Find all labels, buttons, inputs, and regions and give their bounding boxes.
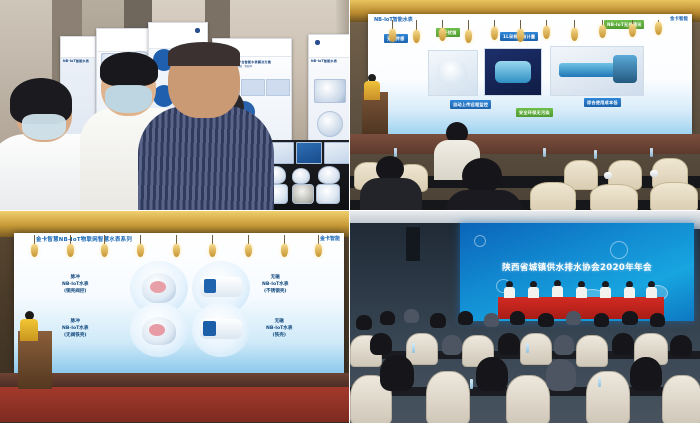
delegate-chair — [506, 375, 550, 423]
banner-product-image — [314, 79, 346, 103]
ceiling-lamp — [517, 29, 524, 42]
ceiling-lamp — [101, 244, 108, 257]
ceiling-lamp — [173, 244, 180, 257]
label-line-3: (铁壳) — [273, 333, 286, 338]
panelist — [600, 281, 611, 298]
delegate — [670, 335, 692, 357]
ceiling-lamp — [491, 27, 498, 40]
label-line-2: NB-IoT水表 — [62, 326, 88, 331]
panelist-body — [646, 287, 657, 298]
ceiling-lamp — [571, 28, 578, 41]
water-bottle — [526, 343, 529, 353]
ceiling-lamp — [281, 244, 288, 257]
ceiling-lamp — [315, 244, 322, 257]
ceiling-lamp — [245, 244, 252, 257]
delegate-chair — [586, 371, 630, 423]
water-meter-graphic — [437, 61, 467, 83]
slide-product-image — [428, 50, 478, 96]
delegate — [538, 313, 554, 327]
label-line-2: NB-IoT水表 — [62, 282, 88, 287]
label-line-3: (无阀铁壳) — [64, 333, 87, 338]
teapot — [650, 170, 658, 177]
teapot — [604, 172, 612, 179]
side-wall — [350, 223, 460, 323]
banner-header — [309, 35, 350, 58]
delegate — [612, 333, 634, 355]
ceiling-lamp — [31, 244, 38, 257]
water-meter-graphic — [495, 61, 531, 83]
water-meter-sample — [292, 168, 310, 184]
annual-meeting-scene: 陕西省城镇供水排水协会2020年年会 — [350, 211, 700, 423]
water-meter-sample — [318, 166, 340, 184]
booth-scene: NB-IoT智能水表 — [0, 0, 349, 210]
banner-title: NB-IoT智能水表 — [309, 58, 350, 64]
product-label-bottom-right: 无磁 NB-IoT水表 (铁壳) — [266, 319, 292, 340]
delegate — [356, 315, 372, 330]
audience-body — [446, 190, 522, 211]
delegate — [650, 313, 665, 327]
delegate — [554, 335, 574, 355]
audience-chair — [530, 182, 576, 211]
slide-tag: 综合使用成本低 — [584, 98, 621, 107]
panelist — [646, 281, 657, 298]
speaker — [20, 311, 38, 341]
label-line-1: 脉冲 — [71, 275, 80, 280]
panelist-body — [576, 287, 587, 298]
label-line-3: (不锈钢壳) — [264, 289, 287, 294]
audience-chair — [650, 182, 698, 211]
slide-product-image — [550, 46, 644, 96]
slide-tag: 自动上传远程监控 — [450, 100, 491, 109]
meter-dial — [150, 281, 166, 293]
audience-chair — [590, 184, 638, 211]
delegate — [498, 333, 520, 355]
ceiling-lamp — [655, 22, 662, 35]
slide-brand: 金卡智能 — [320, 235, 340, 242]
delegate-foreground — [546, 359, 576, 391]
product-label-bottom-left: 脉冲 NB-IoT水表 (无阀铁壳) — [62, 319, 88, 340]
delegate — [380, 311, 395, 325]
water-meter-graphic — [613, 55, 637, 83]
presentation-scene: 金卡智慧NB-IoT物联网智慧水表系列 金卡智能 — [0, 211, 349, 423]
photo-bottom-left: 金卡智慧NB-IoT物联网智慧水表系列 金卡智能 — [0, 211, 350, 423]
water-bottle — [412, 343, 415, 353]
stage-edge — [0, 373, 350, 387]
ceiling-lamp — [543, 26, 550, 39]
photo-bottom-right: 陕西省城镇供水排水协会2020年年会 — [350, 211, 700, 423]
product-box — [296, 142, 322, 164]
ceiling-lamp — [439, 28, 446, 41]
label-line-1: 无磁 — [271, 275, 280, 280]
delegate-chair — [406, 333, 438, 365]
product-circle-bottom-left — [130, 303, 188, 357]
panelist — [528, 281, 539, 298]
company-logo-icon — [193, 26, 202, 35]
water-bottle — [598, 377, 601, 387]
delegate — [594, 313, 609, 327]
product-label-top-left: 脉冲 NB-IoT水表 (铜壳阀控) — [62, 275, 88, 296]
ceiling-lamp — [465, 30, 472, 43]
slide-title: 金卡智慧NB-IoT物联网智慧水表系列 — [36, 235, 132, 243]
ceiling-lamp — [599, 25, 606, 38]
delegate — [404, 309, 419, 323]
slide-tag: NB-IoT无线通讯 — [604, 20, 644, 29]
ceiling-lamp — [413, 30, 420, 43]
label-line-1: 脉冲 — [71, 319, 80, 324]
panelist-body — [552, 286, 563, 297]
panelist-body — [600, 287, 611, 298]
stage-banner-title: 陕西省城镇供水排水协会2020年年会 — [502, 261, 652, 273]
conference-hall-scene: NB-IoT智能水表 金卡智能 无磁传感 抗干扰强 1L采样双向计量 NB-Io… — [350, 0, 700, 210]
delegate — [484, 313, 499, 327]
water-meter-sample — [316, 184, 340, 204]
audience-head — [462, 158, 502, 194]
photo-top-right: NB-IoT智能水表 金卡智能 无磁传感 抗干扰强 1L采样双向计量 NB-Io… — [350, 0, 700, 211]
delegate — [622, 311, 638, 325]
photo-collage: NB-IoT智能水表 — [0, 0, 700, 423]
slide-title: NB-IoT智能水表 — [374, 16, 413, 23]
panelist — [552, 280, 563, 297]
photo-top-left: NB-IoT智能水表 — [0, 0, 350, 211]
product-box — [324, 142, 350, 164]
ceiling-lamp — [629, 24, 636, 37]
delegate-chair — [520, 333, 552, 365]
delegate-foreground — [476, 357, 508, 391]
meter-dial — [149, 324, 165, 336]
label-line-2: NB-IoT水表 — [266, 326, 292, 331]
meter-body — [204, 279, 216, 293]
banner-product-image — [317, 111, 343, 137]
decor-bubble — [474, 235, 486, 247]
slide-product-image — [484, 48, 542, 96]
water-bottle — [470, 379, 473, 389]
delegate-foreground — [380, 355, 414, 391]
audience-body — [360, 178, 422, 211]
water-bottle — [594, 150, 597, 159]
label-line-2: NB-IoT水表 — [262, 282, 288, 287]
ceiling-lamp — [67, 244, 74, 257]
face-mask — [22, 114, 66, 140]
attendee-foreground — [140, 44, 270, 211]
loudspeaker — [406, 227, 420, 261]
delegate-chair — [576, 335, 608, 367]
water-bottle — [394, 148, 397, 157]
attendee-hair — [168, 42, 240, 66]
panelist-body — [624, 287, 635, 298]
delegate — [442, 335, 462, 355]
water-bottle — [543, 148, 546, 157]
company-logo-icon — [313, 38, 322, 47]
panelist — [576, 281, 587, 298]
delegate-chair — [662, 375, 700, 423]
water-meter-sample — [292, 184, 314, 204]
stage-edge — [350, 134, 700, 154]
speaker-body — [20, 319, 38, 341]
ceiling-lamp — [389, 29, 396, 42]
delegate — [430, 313, 446, 328]
delegate — [458, 311, 473, 325]
water-bottle — [650, 148, 653, 157]
delegate — [566, 311, 581, 325]
speaker-body — [364, 81, 380, 100]
red-carpet — [0, 387, 350, 422]
panelist-body — [528, 287, 539, 298]
delegate — [370, 333, 392, 355]
delegate — [510, 311, 525, 325]
panelist-body — [504, 287, 515, 298]
panelist — [504, 281, 515, 298]
label-line-3: (铜壳阀控) — [64, 289, 87, 294]
label-line-1: 无磁 — [275, 319, 284, 324]
water-meter-graphic — [559, 63, 615, 77]
meter-body — [203, 321, 216, 336]
ceiling-lamp — [137, 244, 144, 257]
delegate-chair — [426, 371, 470, 423]
panelist — [624, 281, 635, 298]
delegate-foreground — [630, 357, 662, 391]
attendee-body — [138, 106, 274, 211]
speaker — [364, 74, 380, 100]
product-label-top-right: 无磁 NB-IoT水表 (不锈钢壳) — [262, 275, 288, 296]
slide-tag: 安全环保无污染 — [516, 108, 553, 117]
product-circle-bottom-right — [192, 303, 250, 357]
decor-bubble — [610, 241, 628, 259]
ceiling-lamp — [209, 244, 216, 257]
slide-brand: 金卡智能 — [670, 16, 688, 22]
